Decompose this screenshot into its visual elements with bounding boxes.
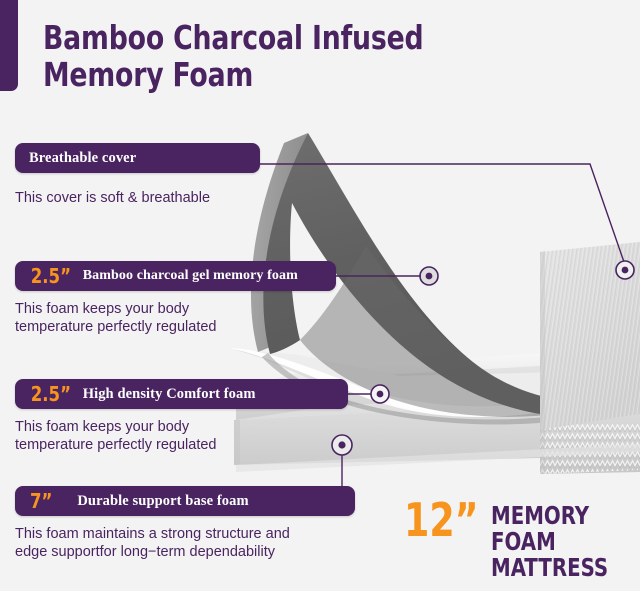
total-size-value: 12” [404,500,479,540]
label-comfort-text: High density Comfort foam [83,386,256,403]
product-size-callout: 12” MEMORY FOAMMATTRESS [404,500,640,581]
label-base-text: Durable support base foam [77,493,248,510]
callout-dot-cover [616,261,634,279]
label-box-base[interactable]: 7” Durable support base foam [15,486,355,516]
callout-dot-comfort [371,385,389,403]
product-name-line2: MATTRESS [491,553,608,582]
description-base: This foam maintains a strong structure a… [15,526,345,561]
label-gel-size: 2.5” [31,264,71,288]
callout-dot-base [332,435,352,455]
label-box-gel[interactable]: 2.5” Bamboo charcoal gel memory foam [15,261,336,291]
product-name-line1: MEMORY FOAM [491,501,589,556]
description-comfort: This foam keeps your body temperature pe… [15,419,275,454]
description-cover: This cover is soft & breathable [15,190,285,208]
label-box-comfort[interactable]: 2.5” High density Comfort foam [15,379,348,409]
label-base-size: 7” [30,489,52,513]
product-name: MEMORY FOAMMATTRESS [491,500,622,581]
label-comfort-size: 2.5” [31,382,71,406]
description-gel: This foam keeps your body temperature pe… [15,301,275,336]
label-gel-text: Bamboo charcoal gel memory foam [83,268,298,284]
label-box-cover[interactable]: Breathable cover [15,143,260,173]
infographic-canvas: Bamboo Charcoal Infused Memory Foam [0,0,640,591]
label-cover-text: Breathable cover [29,150,136,167]
callout-dot-gel [420,267,438,285]
